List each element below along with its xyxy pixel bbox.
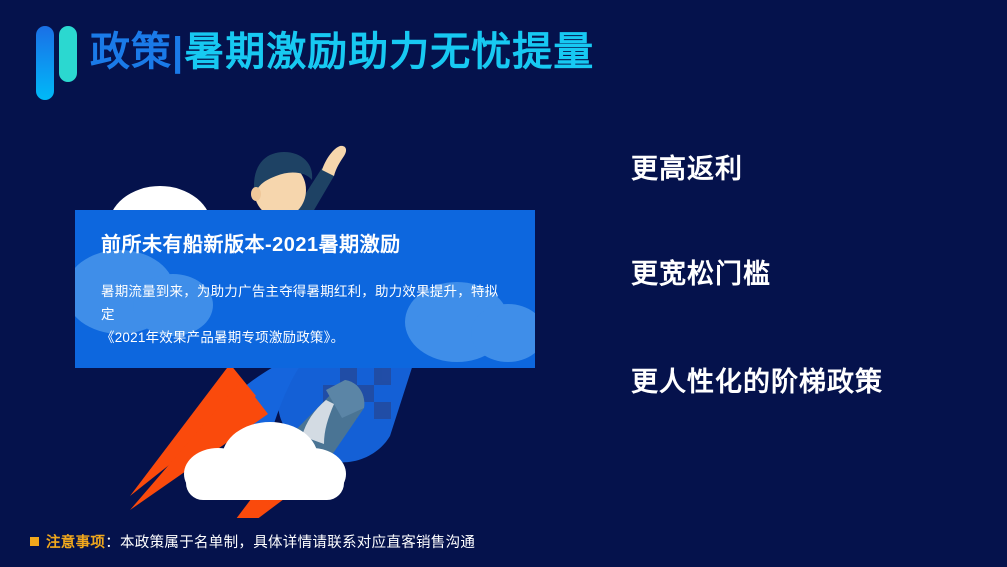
footer-note: 注意事项 ：本政策属于名单制，具体详情请联系对应直客销售沟通 [30,531,475,552]
slide-root: 政策|暑期激励助力无忧提量 [0,0,1007,567]
header-accent-bars [36,26,78,102]
accent-bar-blue-icon [36,26,54,100]
page-title-prefix: 政策| [90,30,184,74]
footer-note-text: ：本政策属于名单制，具体详情请联系对应直客销售沟通 [105,531,475,552]
card-title: 前所未有船新版本-2021暑期激励 [101,232,509,258]
slide-header: 政策|暑期激励助力无忧提量 [0,0,1007,110]
policy-card: 前所未有船新版本-2021暑期激励 暑期流量到来，为助力广告主夺得暑期红利，助力… [75,210,535,368]
benefit-item-higher-rebate: 更高返利 [631,152,743,186]
benefit-item-looser-threshold: 更宽松门槛 [631,257,771,291]
square-bullet-icon [30,537,39,546]
accent-bar-teal-icon [59,26,77,82]
benefit-item-tiered-policy: 更人性化的阶梯政策 [631,365,883,399]
page-title-main: 暑期激励助力无忧提量 [184,30,594,74]
card-body-line-2: 《2021年效果产品暑期专项激励政策》。 [101,326,509,349]
page-title: 政策|暑期激励助力无忧提量 [90,24,594,80]
card-body-line-1: 暑期流量到来，为助力广告主夺得暑期红利，助力效果提升，特拟定 [101,280,509,326]
footer-note-highlight: 注意事项 [46,531,105,552]
